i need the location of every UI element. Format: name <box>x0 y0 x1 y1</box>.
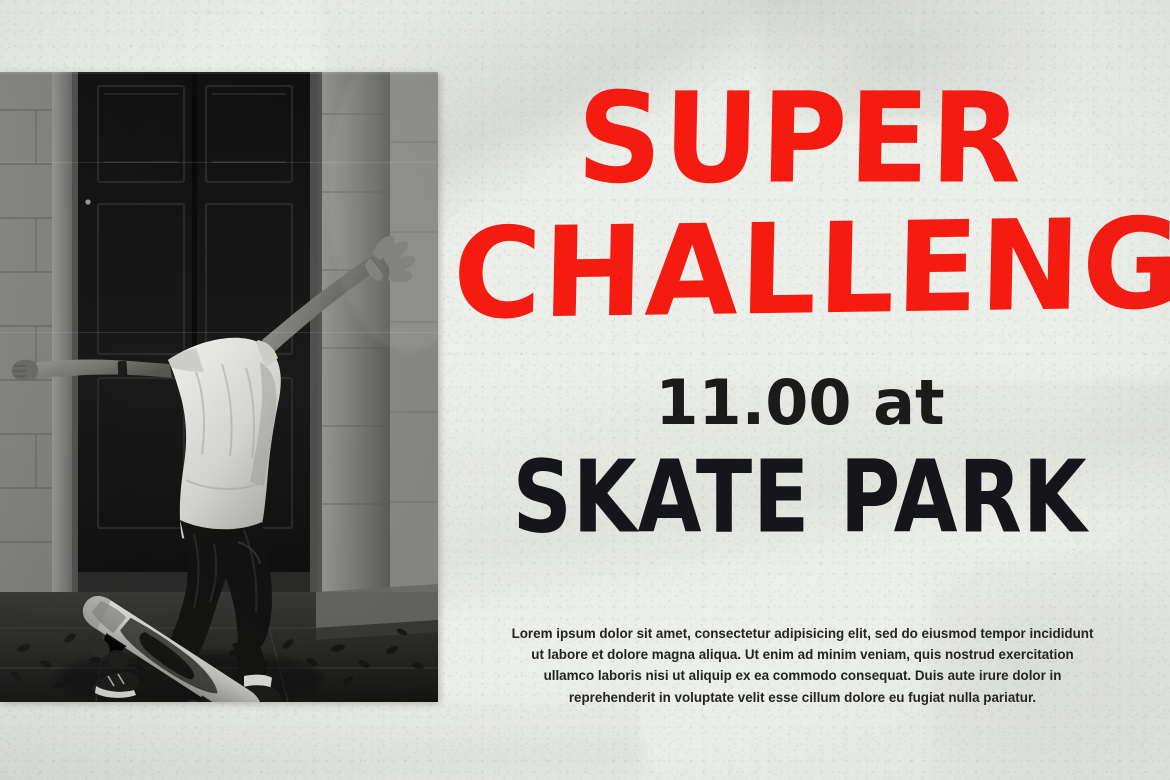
headline-line-2: CHALLENGE <box>452 201 1148 336</box>
headline-line-1: SUPER <box>469 75 1131 200</box>
event-venue: SKATE PARK <box>483 448 1117 548</box>
event-time: 11.00 at <box>470 372 1130 434</box>
skateboarder-photo <box>0 72 438 702</box>
skateboarder-photo-illustration <box>0 72 438 702</box>
poster-canvas: SUPER CHALLENGE 11.00 at SKATE PARK Lore… <box>0 0 1170 780</box>
body-paragraph: Lorem ipsum dolor sit amet, consectetur … <box>510 623 1095 708</box>
